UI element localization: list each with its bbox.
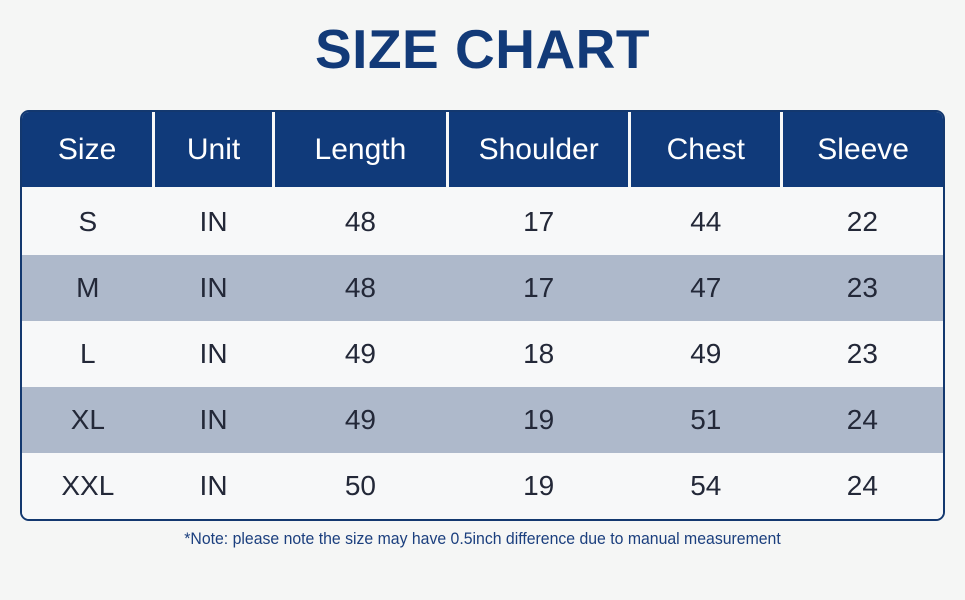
cell-chest: 47 (630, 255, 782, 321)
page-title: SIZE CHART (0, 0, 965, 77)
size-chart-table-container: Size Unit Length Shoulder Chest Sleeve S… (20, 110, 945, 521)
table-row: L IN 49 18 49 23 (22, 321, 943, 387)
cell-sleeve: 22 (782, 188, 943, 255)
cell-unit: IN (154, 188, 274, 255)
cell-size: XL (22, 387, 154, 453)
cell-chest: 51 (630, 387, 782, 453)
cell-size: L (22, 321, 154, 387)
cell-length: 49 (273, 321, 447, 387)
measurement-note: *Note: please note the size may have 0.5… (34, 529, 931, 549)
table-body: S IN 48 17 44 22 M IN 48 17 47 23 L (22, 188, 943, 519)
cell-length: 48 (273, 255, 447, 321)
cell-chest: 54 (630, 453, 782, 519)
table-row: S IN 48 17 44 22 (22, 188, 943, 255)
cell-unit: IN (154, 255, 274, 321)
size-chart-page: SIZE CHART Size Unit Length Shoulder Che… (0, 0, 965, 600)
cell-size: M (22, 255, 154, 321)
table-header: Size Unit Length Shoulder Chest Sleeve (22, 112, 943, 188)
cell-shoulder: 19 (447, 453, 629, 519)
column-header-size: Size (22, 112, 154, 188)
cell-length: 50 (273, 453, 447, 519)
cell-shoulder: 17 (447, 188, 629, 255)
cell-shoulder: 17 (447, 255, 629, 321)
cell-sleeve: 24 (782, 387, 943, 453)
cell-sleeve: 23 (782, 321, 943, 387)
cell-shoulder: 18 (447, 321, 629, 387)
cell-length: 49 (273, 387, 447, 453)
cell-unit: IN (154, 453, 274, 519)
cell-chest: 49 (630, 321, 782, 387)
column-header-length: Length (273, 112, 447, 188)
table-row: M IN 48 17 47 23 (22, 255, 943, 321)
size-chart-table: Size Unit Length Shoulder Chest Sleeve S… (22, 112, 943, 519)
column-header-sleeve: Sleeve (782, 112, 943, 188)
cell-size: S (22, 188, 154, 255)
cell-unit: IN (154, 387, 274, 453)
cell-chest: 44 (630, 188, 782, 255)
cell-sleeve: 24 (782, 453, 943, 519)
column-header-chest: Chest (630, 112, 782, 188)
cell-size: XXL (22, 453, 154, 519)
cell-unit: IN (154, 321, 274, 387)
table-row: XXL IN 50 19 54 24 (22, 453, 943, 519)
cell-sleeve: 23 (782, 255, 943, 321)
cell-length: 48 (273, 188, 447, 255)
cell-shoulder: 19 (447, 387, 629, 453)
column-header-unit: Unit (154, 112, 274, 188)
column-header-shoulder: Shoulder (447, 112, 629, 188)
table-row: XL IN 49 19 51 24 (22, 387, 943, 453)
table-header-row: Size Unit Length Shoulder Chest Sleeve (22, 112, 943, 188)
